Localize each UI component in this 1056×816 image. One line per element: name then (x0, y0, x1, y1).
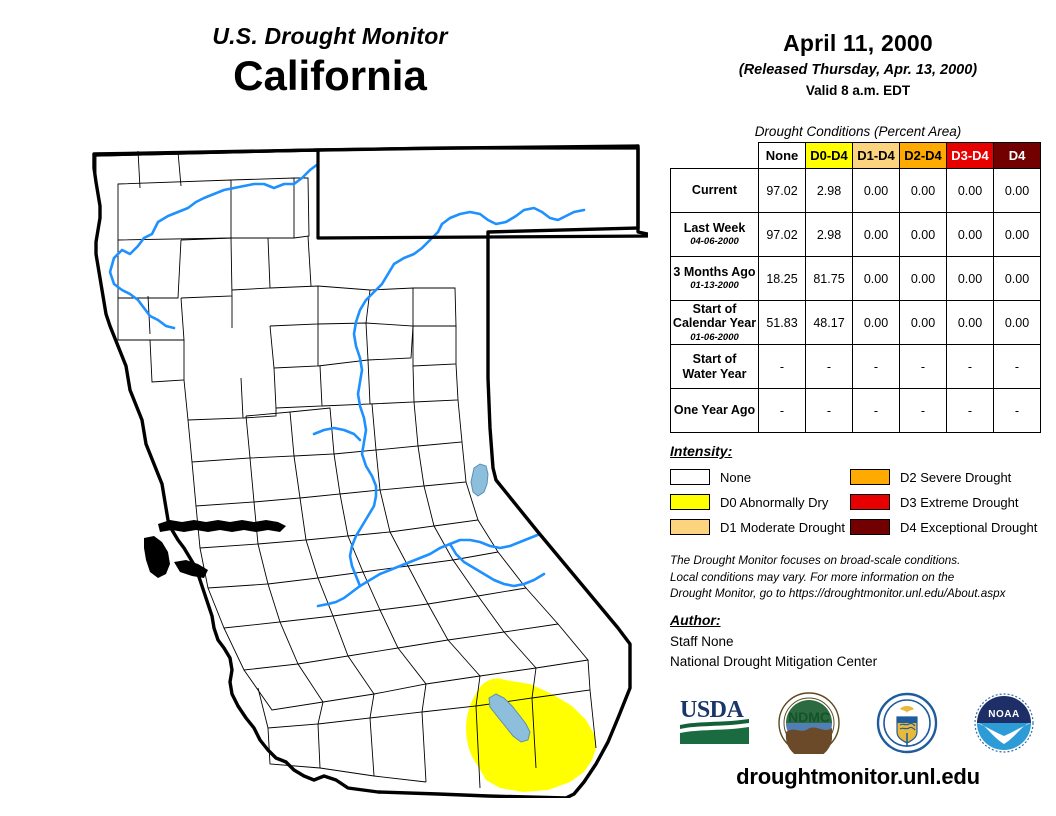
legend-label: D2 Severe Drought (900, 470, 1011, 485)
program-title: U.S. Drought Monitor (0, 24, 660, 48)
row-label-text: One Year Ago (671, 403, 758, 417)
column-header-d0d4: D0-D4 (806, 143, 853, 169)
row-label-text: Start of Water Year (671, 352, 758, 381)
table-header: None D0-D4 D1-D4 D2-D4 D3-D4 D4 (671, 143, 1041, 169)
noaa-logo[interactable]: NOAA (969, 692, 1045, 758)
legend-item-d3: D3 Extreme Drought (850, 491, 1030, 513)
cell-calyear-d4: 0.00 (994, 301, 1041, 345)
cell-oneyear-none: - (759, 389, 806, 433)
row-label-text: Last Week (671, 221, 758, 235)
cell-current-d3d4: 0.00 (947, 169, 994, 213)
cell-oneyear-d2d4: - (900, 389, 947, 433)
row-label-text: 3 Months Ago (671, 265, 758, 279)
cell-wateryear-d4: - (994, 345, 1041, 389)
cell-calyear-d2d4: 0.00 (900, 301, 947, 345)
cell-3months-d1d4: 0.00 (853, 257, 900, 301)
cell-current-d1d4: 0.00 (853, 169, 900, 213)
legend-label: D0 Abnormally Dry (720, 495, 828, 510)
disclaimer-line-2: Local conditions may vary. For more info… (670, 570, 1056, 587)
date-block: April 11, 2000 (Released Thursday, Apr. … (660, 30, 1056, 98)
row-label-start-water-year: Start of Water Year (671, 345, 759, 389)
column-header-d2d4: D2-D4 (900, 143, 947, 169)
released-date: (Released Thursday, Apr. 13, 2000) (660, 62, 1056, 78)
intensity-heading: Intensity: (670, 443, 1056, 459)
table-row: One Year Ago - - - - - - (671, 389, 1041, 433)
title-block: U.S. Drought Monitor California (0, 24, 660, 99)
cell-calyear-d1d4: 0.00 (853, 301, 900, 345)
cell-oneyear-d1d4: - (853, 389, 900, 433)
intensity-legend: Intensity: None D0 Abnormally Dry D1 Mod… (670, 443, 1056, 541)
author-heading: Author: (670, 612, 1056, 628)
legend-label: None (720, 470, 751, 485)
row-label-last-week: Last Week 04-06-2000 (671, 213, 759, 257)
author-name: Staff None (670, 632, 1056, 652)
column-header-d3d4: D3-D4 (947, 143, 994, 169)
site-url[interactable]: droughtmonitor.unl.edu (660, 764, 1056, 790)
swatch-d0-icon (670, 494, 710, 510)
cell-lastweek-none: 97.02 (759, 213, 806, 257)
legend-item-d2: D2 Severe Drought (850, 466, 1030, 488)
row-label-start-calendar-year: Start of Calendar Year 01-06-2000 (671, 301, 759, 345)
usda-logo[interactable]: USDA (677, 692, 753, 758)
row-label-date: 01-13-2000 (671, 280, 758, 291)
cell-current-none: 97.02 (759, 169, 806, 213)
swatch-d1-icon (670, 519, 710, 535)
column-header-d4: D4 (994, 143, 1041, 169)
cell-3months-none: 18.25 (759, 257, 806, 301)
table-corner-cell (671, 143, 759, 169)
legend-item-none: None (670, 466, 850, 488)
cell-lastweek-d4: 0.00 (994, 213, 1041, 257)
cell-lastweek-d0d4: 2.98 (806, 213, 853, 257)
state-title: California (0, 52, 660, 99)
cell-current-d4: 0.00 (994, 169, 1041, 213)
cell-calyear-none: 51.83 (759, 301, 806, 345)
info-panel: April 11, 2000 (Released Thursday, Apr. … (660, 0, 1056, 816)
logo-row: USDA NDMC (666, 692, 1056, 758)
row-label-text: Current (671, 183, 758, 197)
california-drought-map[interactable] (18, 128, 648, 798)
usdc-seal[interactable] (872, 692, 948, 758)
cell-lastweek-d3d4: 0.00 (947, 213, 994, 257)
cell-wateryear-d1d4: - (853, 345, 900, 389)
cell-oneyear-d4: - (994, 389, 1041, 433)
table-header-row: None D0-D4 D1-D4 D2-D4 D3-D4 D4 (671, 143, 1041, 169)
swatch-d4-icon (850, 519, 890, 535)
cell-lastweek-d1d4: 0.00 (853, 213, 900, 257)
lake-tahoe (471, 464, 488, 496)
cell-current-d2d4: 0.00 (900, 169, 947, 213)
row-label-current: Current (671, 169, 759, 213)
cell-3months-d3d4: 0.00 (947, 257, 994, 301)
legend-label: D1 Moderate Drought (720, 520, 845, 535)
legend-label: D4 Exceptional Drought (900, 520, 1037, 535)
row-label-date: 01-06-2000 (671, 332, 758, 343)
row-label-one-year-ago: One Year Ago (671, 389, 759, 433)
swatch-none-icon (670, 469, 710, 485)
swatch-d3-icon (850, 494, 890, 510)
valid-date: April 11, 2000 (660, 30, 1056, 57)
legend-column-left: None D0 Abnormally Dry D1 Moderate Droug… (670, 466, 850, 541)
cell-calyear-d3d4: 0.00 (947, 301, 994, 345)
table-caption: Drought Conditions (Percent Area) (660, 124, 1056, 139)
map-panel: U.S. Drought Monitor California (0, 0, 660, 816)
table-row: Last Week 04-06-2000 97.02 2.98 0.00 0.0… (671, 213, 1041, 257)
cell-oneyear-d0d4: - (806, 389, 853, 433)
cell-wateryear-none: - (759, 345, 806, 389)
legend-item-d1: D1 Moderate Drought (670, 516, 850, 538)
legend-column-right: D2 Severe Drought D3 Extreme Drought D4 … (850, 466, 1030, 541)
drought-conditions-table: None D0-D4 D1-D4 D2-D4 D3-D4 D4 Current … (670, 142, 1041, 433)
legend-label: D3 Extreme Drought (900, 495, 1019, 510)
author-block: Author: Staff None National Drought Miti… (670, 612, 1056, 671)
cell-oneyear-d3d4: - (947, 389, 994, 433)
cell-wateryear-d0d4: - (806, 345, 853, 389)
cell-3months-d0d4: 81.75 (806, 257, 853, 301)
author-organization: National Drought Mitigation Center (670, 652, 1056, 672)
svg-text:USDA: USDA (680, 697, 745, 723)
row-label-3-months-ago: 3 Months Ago 01-13-2000 (671, 257, 759, 301)
disclaimer-text: The Drought Monitor focuses on broad-sca… (670, 553, 1056, 603)
drought-area-d0 (466, 678, 596, 792)
table-row: Current 97.02 2.98 0.00 0.00 0.00 0.00 (671, 169, 1041, 213)
table-row: Start of Calendar Year 01-06-2000 51.83 … (671, 301, 1041, 345)
column-header-d1d4: D1-D4 (853, 143, 900, 169)
svg-text:NDMC: NDMC (788, 709, 830, 725)
cell-3months-d2d4: 0.00 (900, 257, 947, 301)
legend-item-d4: D4 Exceptional Drought (850, 516, 1030, 538)
row-label-date: 04-06-2000 (671, 236, 758, 247)
table-row: 3 Months Ago 01-13-2000 18.25 81.75 0.00… (671, 257, 1041, 301)
valid-time: Valid 8 a.m. EDT (660, 83, 1056, 98)
cell-lastweek-d2d4: 0.00 (900, 213, 947, 257)
cell-wateryear-d2d4: - (900, 345, 947, 389)
legend-item-d0: D0 Abnormally Dry (670, 491, 850, 513)
cell-wateryear-d3d4: - (947, 345, 994, 389)
cell-3months-d4: 0.00 (994, 257, 1041, 301)
table-body: Current 97.02 2.98 0.00 0.00 0.00 0.00 L… (671, 169, 1041, 433)
cell-current-d0d4: 2.98 (806, 169, 853, 213)
row-label-text: Start of Calendar Year (671, 302, 758, 331)
cell-calyear-d0d4: 48.17 (806, 301, 853, 345)
table-row: Start of Water Year - - - - - - (671, 345, 1041, 389)
ndmc-logo[interactable]: NDMC (774, 692, 850, 758)
swatch-d2-icon (850, 469, 890, 485)
disclaimer-line-3[interactable]: Drought Monitor, go to https://droughtmo… (670, 586, 1056, 603)
svg-text:NOAA: NOAA (989, 709, 1020, 720)
disclaimer-line-1: The Drought Monitor focuses on broad-sca… (670, 553, 1056, 570)
column-header-none: None (759, 143, 806, 169)
